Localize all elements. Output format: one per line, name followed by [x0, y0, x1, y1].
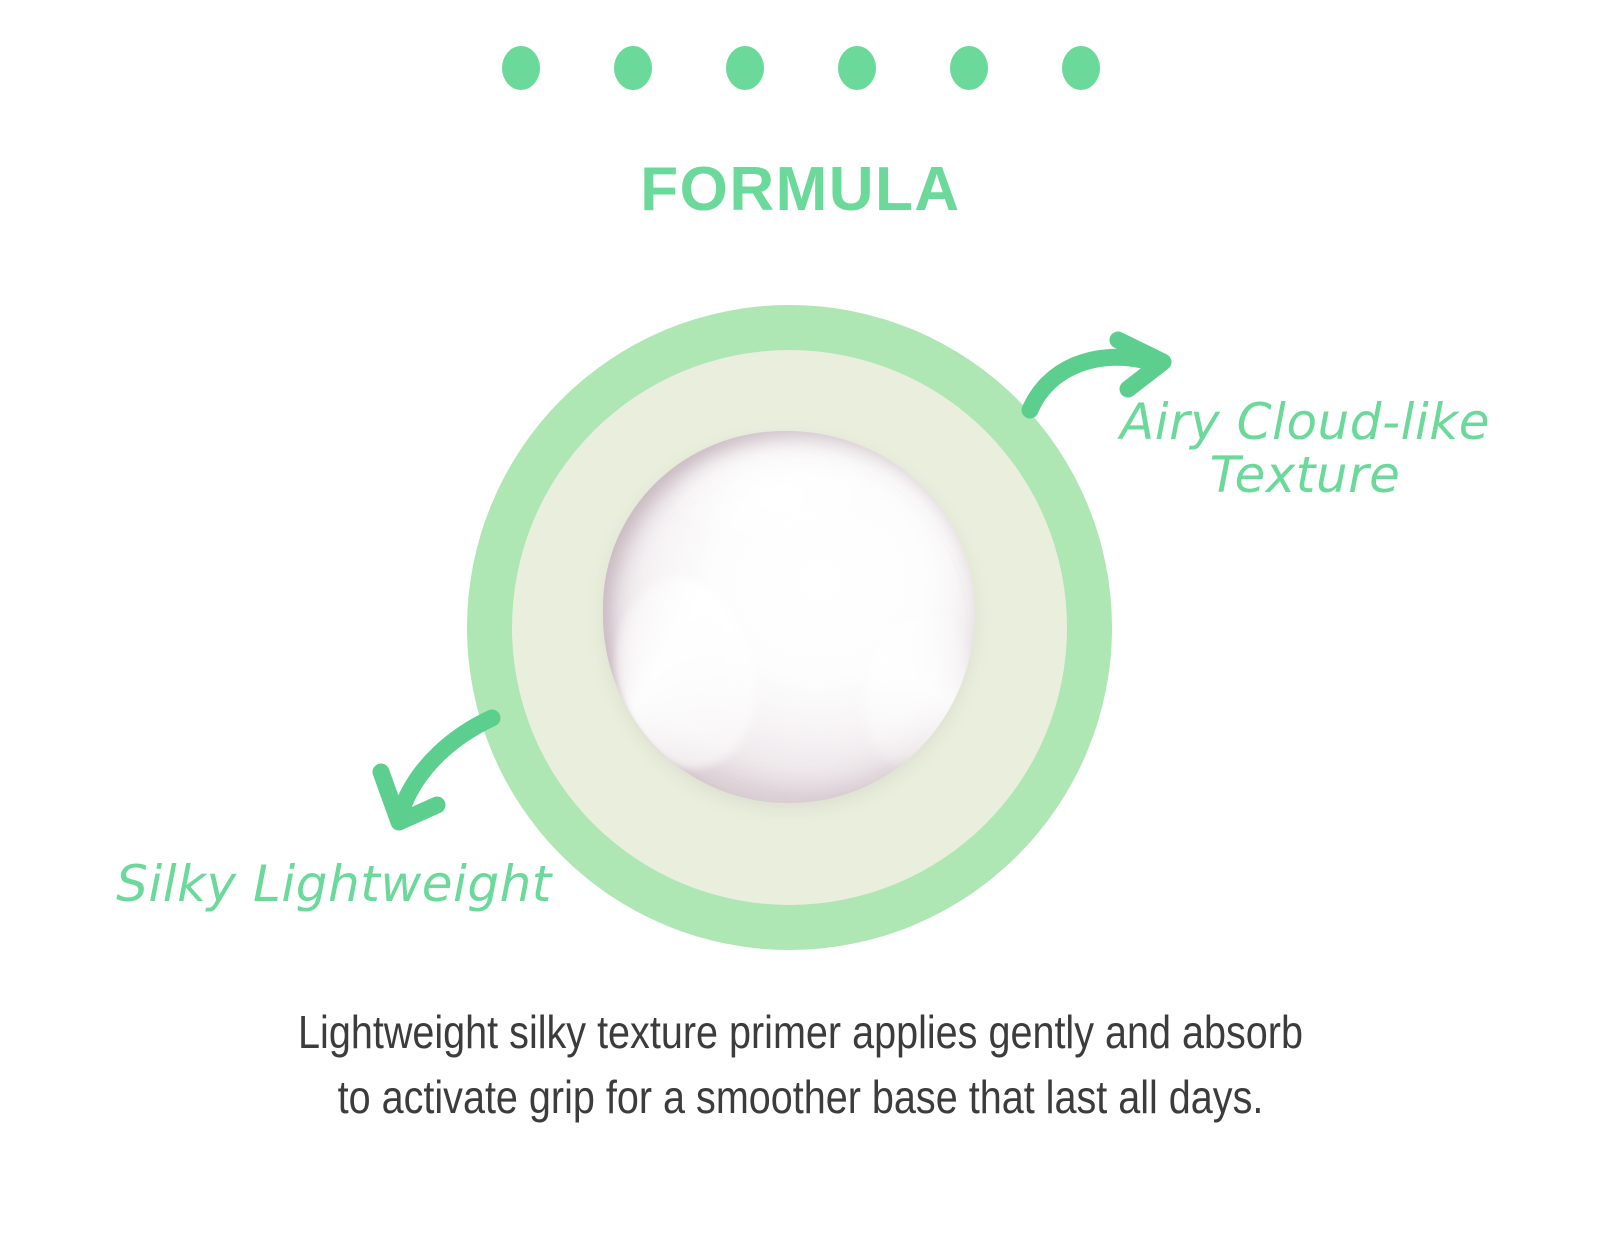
- callout-airy-line2: Texture: [1070, 449, 1540, 502]
- dot-icon: [726, 46, 764, 90]
- formula-section: FORMULA Airy Cloud-like Texture Silky Li…: [0, 0, 1601, 1240]
- texture-swatch-graphic: [467, 305, 1112, 950]
- callout-airy-cloud-like-texture: Airy Cloud-like Texture: [1070, 396, 1540, 501]
- dot-icon: [502, 46, 540, 90]
- description-line2: to activate grip for a smoother base tha…: [112, 1065, 1489, 1130]
- cream-swatch-image: [603, 431, 975, 803]
- dot-icon: [950, 46, 988, 90]
- description-text: Lightweight silky texture primer applies…: [112, 1000, 1489, 1131]
- page-title: FORMULA: [0, 156, 1601, 224]
- callout-silky-line1: Silky Lightweight: [116, 855, 552, 913]
- cream-top-sheen: [665, 449, 897, 569]
- dot-icon: [838, 46, 876, 90]
- callout-airy-line1: Airy Cloud-like: [1070, 396, 1540, 449]
- dot-icon: [614, 46, 652, 90]
- decorative-dot-row: [0, 46, 1601, 90]
- callout-silky-lightweight: Silky Lightweight: [84, 858, 584, 911]
- dot-icon: [1062, 46, 1100, 90]
- description-line1: Lightweight silky texture primer applies…: [112, 1000, 1489, 1065]
